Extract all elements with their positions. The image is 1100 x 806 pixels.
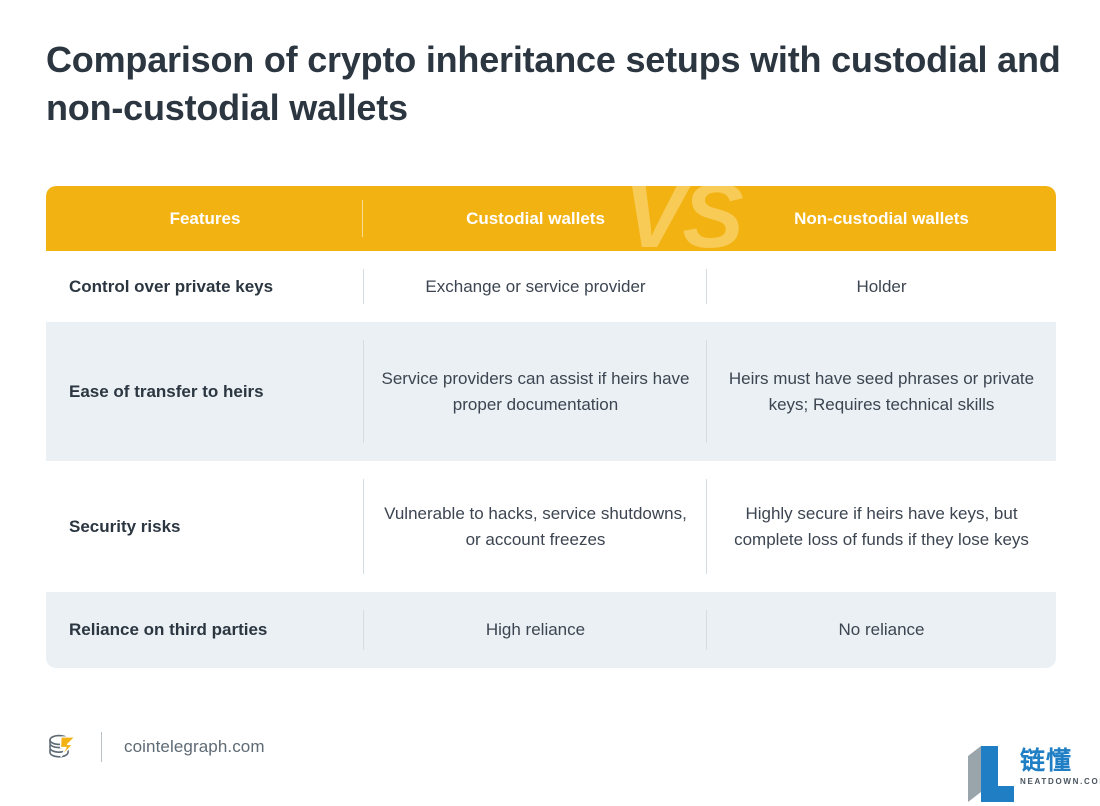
- table-row: Reliance on third parties High reliance …: [46, 592, 1056, 668]
- row-feature-label: Control over private keys: [46, 251, 364, 322]
- row-feature-label: Ease of transfer to heirs: [46, 322, 364, 461]
- column-header-features: Features: [46, 186, 364, 251]
- infographic-page: Comparison of crypto inheritance setups …: [0, 0, 1100, 806]
- row-non-custodial-value: Holder: [707, 251, 1056, 322]
- row-non-custodial-value: Highly secure if heirs have keys, but co…: [707, 461, 1056, 592]
- table-header-row: Features Custodial wallets Non-custodial…: [46, 186, 1056, 251]
- row-custodial-value: High reliance: [364, 592, 707, 668]
- cointelegraph-coin-stack-icon: [46, 730, 80, 764]
- table-row: Security risks Vulnerable to hacks, serv…: [46, 461, 1056, 592]
- row-custodial-value: Exchange or service provider: [364, 251, 707, 322]
- footer: cointelegraph.com: [46, 722, 1056, 772]
- row-feature-label: Reliance on third parties: [46, 592, 364, 668]
- table-row: Ease of transfer to heirs Service provid…: [46, 322, 1056, 461]
- footer-divider: [101, 732, 102, 762]
- column-header-non-custodial: Non-custodial wallets: [707, 186, 1056, 251]
- cointelegraph-domain: cointelegraph.com: [124, 737, 265, 757]
- row-custodial-value: Vulnerable to hacks, service shutdowns, …: [364, 461, 707, 592]
- neatdown-brand-logo: 链懂 NEATDOWN.COM: [968, 746, 1096, 804]
- brand-name-en: NEATDOWN.COM: [1020, 777, 1100, 786]
- column-header-custodial: Custodial wallets: [364, 186, 707, 251]
- table-row: Control over private keys Exchange or se…: [46, 251, 1056, 322]
- row-feature-label: Security risks: [46, 461, 364, 592]
- table-header: VS Features Custodial wallets Non-custod…: [46, 186, 1056, 251]
- row-custodial-value: Service providers can assist if heirs ha…: [364, 322, 707, 461]
- brand-name-cn: 链懂: [1020, 747, 1100, 774]
- neatdown-l-mark-icon: [968, 746, 1014, 802]
- comparison-table: VS Features Custodial wallets Non-custod…: [46, 186, 1056, 668]
- row-non-custodial-value: Heirs must have seed phrases or private …: [707, 322, 1056, 461]
- page-title: Comparison of crypto inheritance setups …: [46, 36, 1066, 132]
- brand-text-block: 链懂 NEATDOWN.COM: [1020, 746, 1100, 786]
- row-non-custodial-value: No reliance: [707, 592, 1056, 668]
- table-body: Control over private keys Exchange or se…: [46, 251, 1056, 668]
